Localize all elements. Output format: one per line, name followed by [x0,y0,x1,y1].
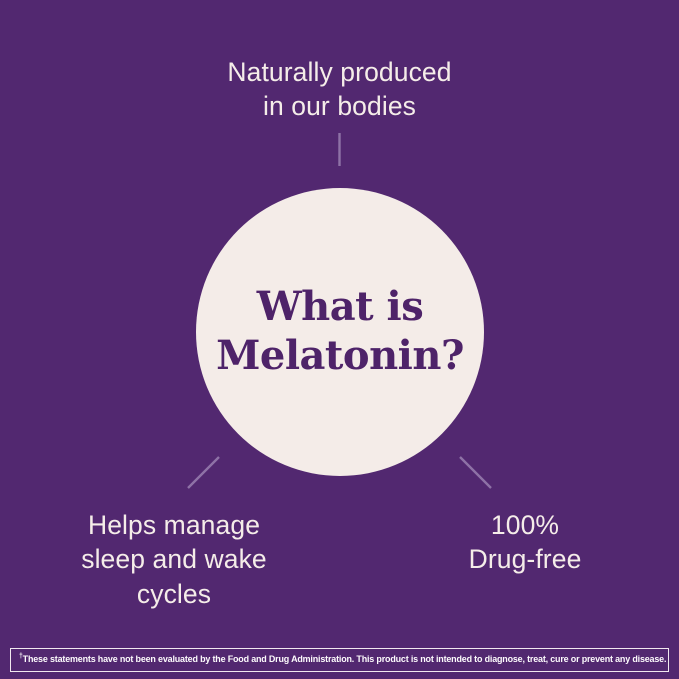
page-title: What is Melatonin? [198,283,482,381]
disclaimer-body: These statements have not been evaluated… [23,654,667,664]
page-title-line: Melatonin? [216,332,464,381]
feature-label-drug-free: 100% Drug-free [390,508,660,577]
center-circle: What is Melatonin? [196,188,484,476]
feature-label-line: in our bodies [0,89,679,123]
feature-label-line: Drug-free [390,542,660,576]
bottom-left-connector-line [188,457,219,488]
feature-label-line: cycles [14,577,334,611]
feature-label-line: Naturally produced [0,55,679,89]
feature-label-line: sleep and wake [14,542,334,576]
disclaimer-box: †These statements have not been evaluate… [10,648,669,672]
page-title-line: What is [216,283,464,332]
feature-label-line: 100% [390,508,660,542]
feature-label-line: Helps manage [14,508,334,542]
feature-label-naturally-produced: Naturally produced in our bodies [0,55,679,124]
disclaimer-text: †These statements have not been evaluate… [19,655,666,664]
feature-label-sleep-wake-cycles: Helps manage sleep and wake cycles [14,508,334,611]
bottom-right-connector-line [460,457,491,488]
infographic-canvas: Naturally produced in our bodies What is… [0,0,679,679]
